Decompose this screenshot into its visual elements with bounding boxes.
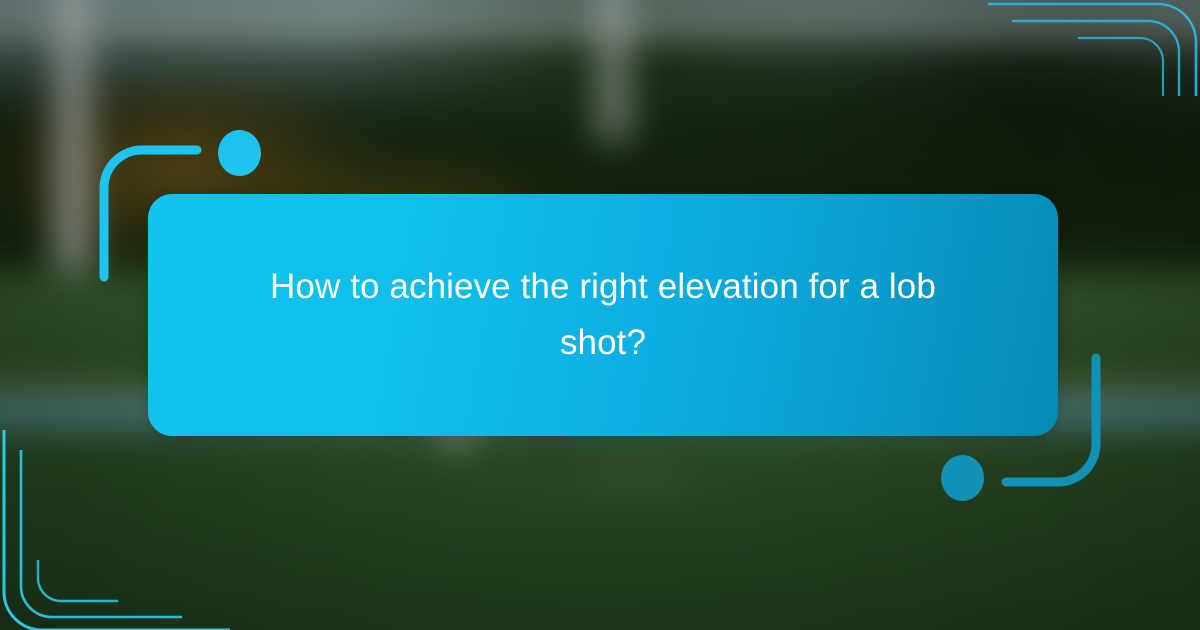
social-card-canvas: How to achieve the right elevation for a… (0, 0, 1200, 630)
card-title-text: How to achieve the right elevation for a… (193, 259, 1013, 371)
title-card: How to achieve the right elevation for a… (148, 194, 1058, 436)
